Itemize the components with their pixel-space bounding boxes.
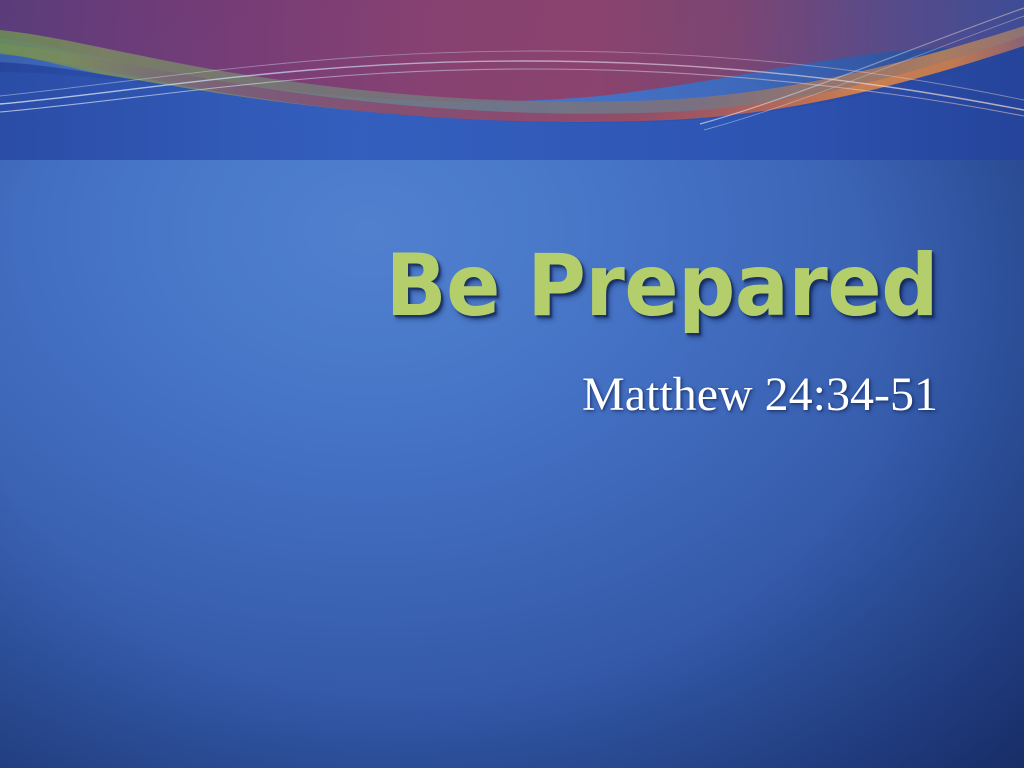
presentation-slide: Be Prepared Matthew 24:34-51 — [0, 0, 1024, 768]
slide-title: Be Prepared — [386, 243, 938, 329]
slide-subtitle: Matthew 24:34-51 — [582, 371, 938, 419]
